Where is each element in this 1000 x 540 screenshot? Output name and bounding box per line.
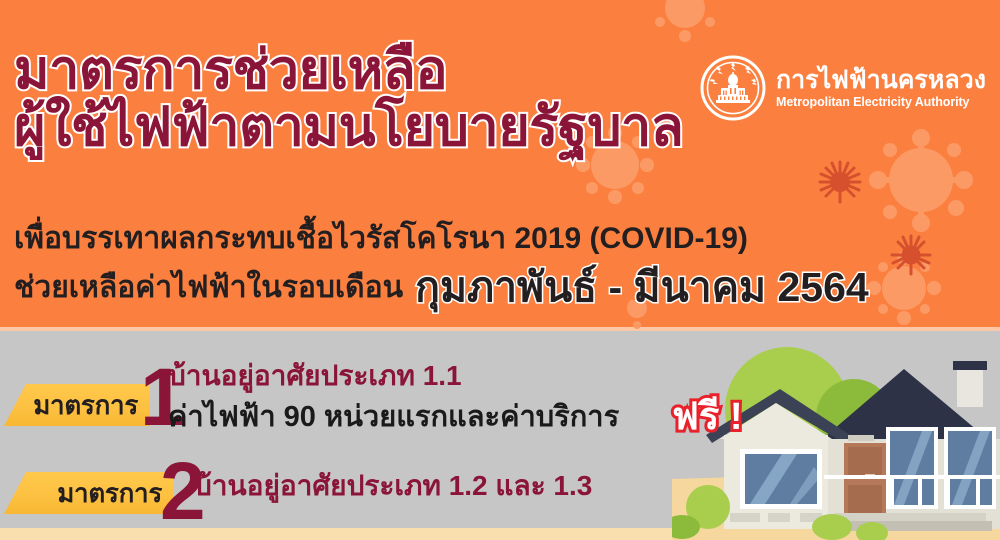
measure-1-tag-label: มาตรการ (33, 385, 138, 426)
measure-2-title: บ้านอยู่อาศัยประเภท 1.2 และ 1.3 (194, 472, 592, 500)
logo-thai-name: การไฟฟ้านครหลวง (776, 68, 986, 93)
headline-line-2: ผู้ใช้ไฟฟ้าตามนโยบายรัฐบาล (14, 99, 694, 156)
mea-emblem-icon (700, 55, 766, 121)
subtitle-block: เพื่อบรรเทาผลกระทบเชื้อไวรัสโคโรนา 2019 … (14, 222, 994, 305)
measure-1-detail: ค่าไฟฟ้า 90 หน่วยแรกและค่าบริการ (168, 403, 619, 432)
subtitle-line-1: เพื่อบรรเทาผลกระทบเชื้อไวรัสโคโรนา 2019 … (14, 222, 994, 257)
measure-1-title: บ้านอยู่อาศัยประเภท 1.1 (168, 362, 462, 390)
subtitle-line-2: ช่วยเหลือค่าไฟฟ้าในรอบเดือน กุมภาพันธ์ -… (14, 263, 994, 306)
measure-1-free-badge: ฟรี ! (672, 398, 743, 436)
measure-2-tag-label: มาตรการ (57, 473, 162, 514)
measure-2-tag: มาตรการ (4, 472, 174, 514)
logo-text-block: การไฟฟ้านครหลวง Metropolitan Electricity… (776, 68, 986, 109)
headline-line-1: มาตรการช่วยเหลือ (14, 42, 694, 99)
mea-logo: การไฟฟ้านครหลวง Metropolitan Electricity… (700, 55, 986, 121)
infographic-poster: การไฟฟ้านครหลวง Metropolitan Electricity… (0, 0, 1000, 540)
logo-english-name: Metropolitan Electricity Authority (776, 96, 986, 109)
measure-1-tag: มาตรการ (4, 384, 150, 426)
subtitle-period-emphasis: กุมภาพันธ์ - มีนาคม 2564 (415, 267, 869, 308)
page-title: มาตรการช่วยเหลือ ผู้ใช้ไฟฟ้าตามนโยบายรัฐ… (14, 42, 694, 155)
subtitle-line-2-prefix: ช่วยเหลือค่าไฟฟ้าในรอบเดือน (14, 271, 403, 306)
